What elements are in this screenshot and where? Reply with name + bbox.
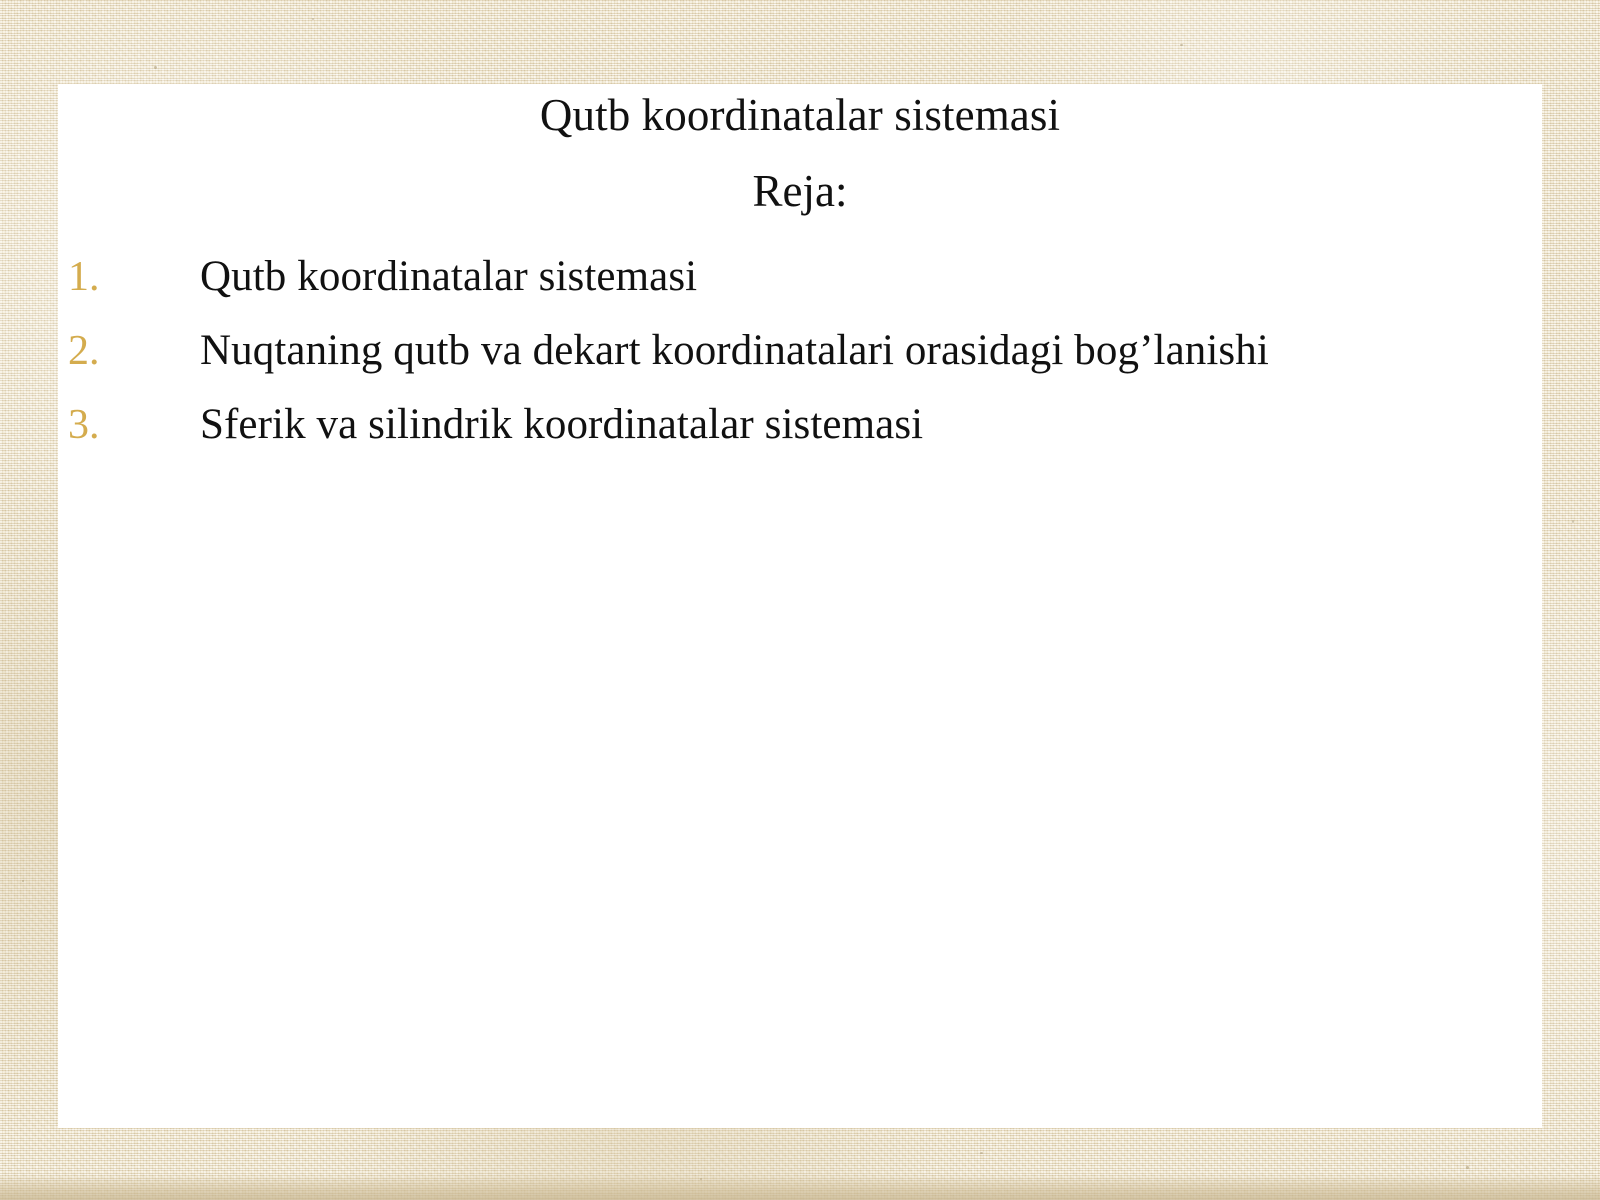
slide-content-panel: Qutb koordinatalar sistemasi Reja: 1. Qu… <box>58 84 1542 1128</box>
list-item: 2. Nuqtaning qutb va dekart koordinatala… <box>58 314 1542 388</box>
page-title: Qutb koordinatalar sistemasi <box>58 92 1542 140</box>
presentation-slide: Qutb koordinatalar sistemasi Reja: 1. Qu… <box>0 0 1600 1200</box>
list-item: 1. Qutb koordinatalar sistemasi <box>58 240 1542 314</box>
list-item-number: 1. <box>68 240 130 314</box>
list-item-label: Nuqtaning qutb va dekart koordinatalari … <box>200 314 1269 388</box>
list-item-label: Qutb koordinatalar sistemasi <box>200 240 697 314</box>
slide-subtitle: Reja: <box>58 168 1542 216</box>
list-item-number: 2. <box>68 314 130 388</box>
plan-list: 1. Qutb koordinatalar sistemasi 2. Nuqta… <box>58 240 1542 462</box>
list-item-number: 3. <box>68 388 130 462</box>
list-item: 3. Sferik va silindrik koordinatalar sis… <box>58 388 1542 462</box>
list-item-label: Sferik va silindrik koordinatalar sistem… <box>200 388 923 462</box>
